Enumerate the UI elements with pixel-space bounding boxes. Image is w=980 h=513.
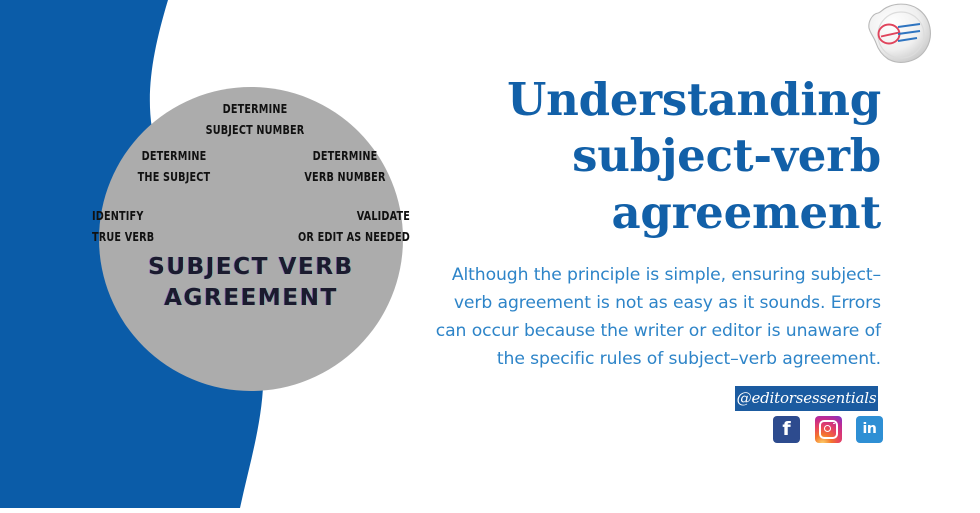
page-title-line-1: Understanding [440,72,881,128]
page-title-line-2: subject-verb [440,128,881,184]
slide-canvas: DETERMINE SUBJECT NUMBER DETERMINE THE S… [0,0,980,513]
circle-center-title: SUBJECT VERB AGREEMENT [99,252,403,314]
circle-label-determine-subject-number: DETERMINE SUBJECT NUMBER [173,98,336,140]
circle-label-determine-the-subject: DETERMINE THE SUBJECT [105,145,243,187]
instagram-icon[interactable] [815,416,842,443]
facebook-glyph: f [782,420,790,439]
social-links: f in [773,415,883,443]
page-title: Understanding subject-verb agreement [440,72,881,241]
instagram-camera-glyph [819,420,838,439]
linkedin-icon[interactable]: in [856,416,883,443]
editors-essentials-logo-icon [862,2,938,68]
page-title-line-3: agreement [440,185,881,241]
circle-label-identify-true-verb: IDENTIFY TRUE VERB [92,205,187,247]
linkedin-glyph: in [863,422,877,436]
circle-label-determine-verb-number: DETERMINE VERB NUMBER [276,145,414,187]
social-handle-badge[interactable]: @editorsessentials [735,386,878,411]
facebook-icon[interactable]: f [773,416,800,443]
body-paragraph: Although the principle is simple, ensuri… [425,262,881,373]
circle-label-validate-or-edit: VALIDATE OR EDIT AS NEEDED [290,205,410,247]
